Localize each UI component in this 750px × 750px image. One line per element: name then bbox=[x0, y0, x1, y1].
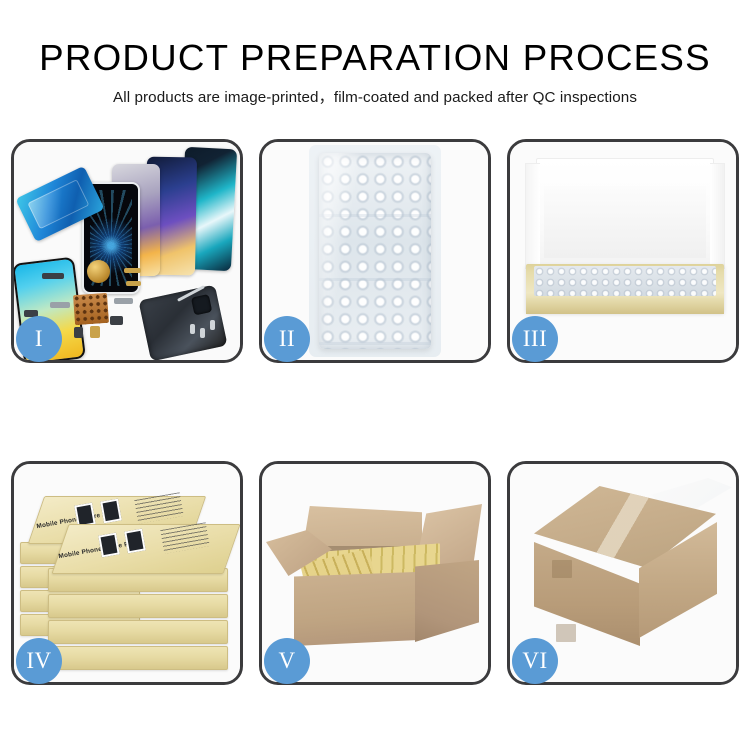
screw-part-3 bbox=[210, 320, 215, 330]
flex-cable-part-1 bbox=[124, 268, 141, 273]
step-badge-3: III bbox=[512, 316, 558, 362]
inner-box-foam bbox=[544, 186, 706, 258]
step-panel-5: V bbox=[259, 461, 491, 685]
bubble-wrap-sheet bbox=[319, 153, 431, 349]
step-panel-1: I bbox=[11, 139, 243, 363]
header: PRODUCT PREPARATION PROCESS All products… bbox=[0, 0, 750, 109]
stacked-box-r4 bbox=[48, 646, 228, 670]
earpiece-part bbox=[42, 273, 64, 279]
flex-cable-part-3 bbox=[50, 302, 70, 308]
inner-box-bubble-contents bbox=[534, 266, 716, 296]
flex-cable-part-2 bbox=[126, 281, 141, 286]
page-subtitle: All products are image-printed，film-coat… bbox=[0, 87, 750, 109]
camera-part bbox=[110, 316, 123, 325]
stacked-box-r2 bbox=[48, 594, 228, 618]
step-badge-4: IV bbox=[16, 638, 62, 684]
box-label-window-front-2 bbox=[124, 529, 146, 554]
step-panel-6: VI bbox=[507, 461, 739, 685]
step-badge-6: VI bbox=[512, 638, 558, 684]
sim-tray-part bbox=[90, 326, 100, 338]
step-badge-5: V bbox=[264, 638, 310, 684]
box-label-window-back-2 bbox=[100, 499, 122, 524]
step-panel-3: III bbox=[507, 139, 739, 363]
product-preparation-infographic: PRODUCT PREPARATION PROCESS All products… bbox=[0, 0, 750, 750]
stacked-box-r3 bbox=[48, 620, 228, 644]
screw-part-1 bbox=[190, 324, 195, 334]
process-steps-grid: I II III bbox=[11, 139, 739, 685]
box-label-window-front-1 bbox=[98, 533, 120, 558]
inner-box-front-lip bbox=[526, 298, 724, 314]
vibrator-part bbox=[74, 327, 83, 338]
page-title: PRODUCT PREPARATION PROCESS bbox=[0, 36, 750, 80]
step-panel-2: II bbox=[259, 139, 491, 363]
carton-side-face bbox=[415, 560, 479, 642]
flex-cable-part-4 bbox=[114, 298, 133, 304]
carton-handle-tab-bottom bbox=[556, 624, 576, 642]
screw-part-2 bbox=[200, 328, 205, 338]
carton-handle-tab-top bbox=[552, 560, 572, 578]
step-panel-4: Mobile Phone Spare Parts Mobile Phone Sp… bbox=[11, 461, 243, 685]
step-badge-2: II bbox=[264, 316, 310, 362]
speaker-coil-part bbox=[87, 260, 110, 283]
connector-chip-part bbox=[73, 293, 109, 325]
step-badge-1: I bbox=[16, 316, 62, 362]
carton-front-face bbox=[294, 572, 416, 646]
